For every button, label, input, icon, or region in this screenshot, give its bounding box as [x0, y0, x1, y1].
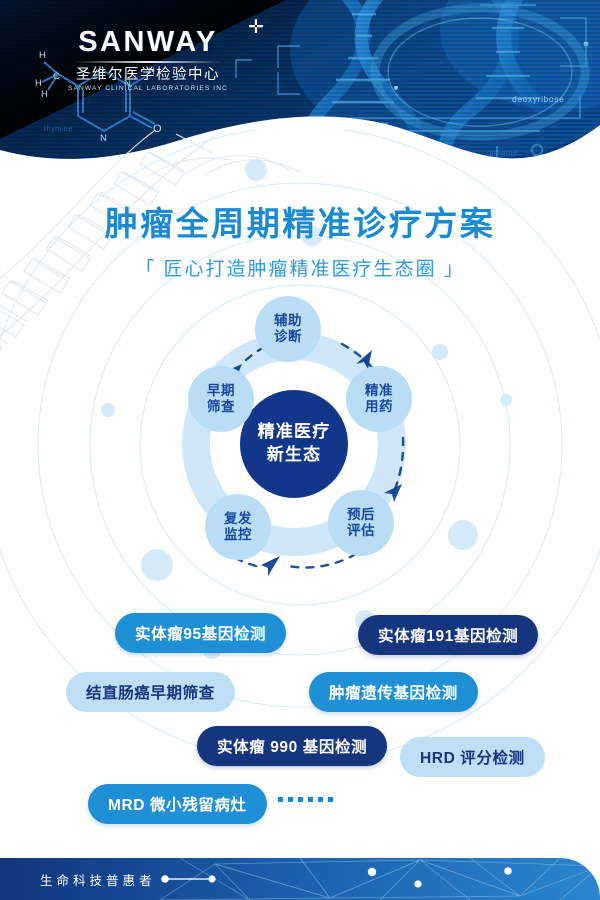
pill-solid-tumor-990[interactable]: 实体瘤 990 基因检测 [197, 726, 387, 766]
pill-hrd-score[interactable]: HRD 评分检测 [400, 737, 545, 777]
pill-tumor-hereditary-gene[interactable]: 肿瘤遗传基因检测 [309, 672, 478, 712]
pill-solid-tumor-95[interactable]: 实体瘤95基因检测 [115, 613, 286, 653]
more-items-ellipsis [278, 797, 333, 802]
footer-bar: 生命科技普惠者 [0, 858, 600, 900]
footer-slogan: 生命科技普惠者 [40, 858, 156, 900]
pill-solid-tumor-191[interactable]: 实体瘤191基因检测 [358, 615, 538, 655]
pill-colorectal-early-screening[interactable]: 结直肠癌早期筛查 [66, 672, 235, 712]
pill-mrd-residual[interactable]: MRD 微小残留病灶 [88, 784, 267, 824]
poster-root: H H H C H N N O SANWAY [0, 0, 600, 900]
product-pill-group: 实体瘤95基因检测 实体瘤191基因检测 结直肠癌早期筛查 肿瘤遗传基因检测 实… [0, 0, 600, 900]
